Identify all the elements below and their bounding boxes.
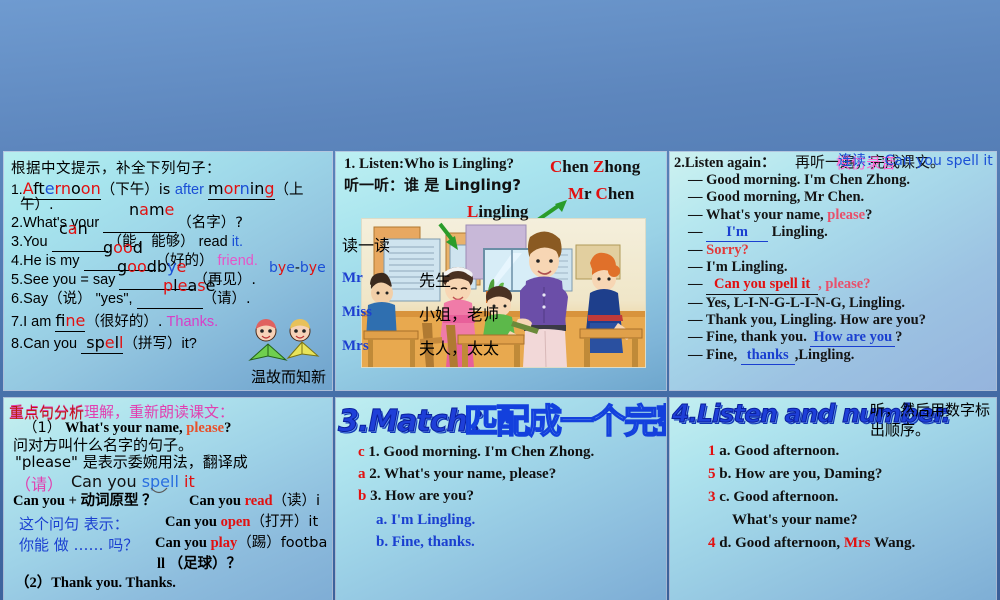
liandu-note: 连读： Can you spell it: [838, 153, 993, 170]
dialogue-text-6: I'm Lingling.: [706, 259, 787, 275]
p4-r3-b: （踢）footba: [237, 535, 327, 551]
match-answer-a[interactable]: a. I'm Lingling.: [358, 509, 666, 531]
panel-key-sentence-analysis: 重点句分析理解，重新朗读课文： 重点句分析 （1） What's your na…: [4, 398, 332, 600]
panel4-content: 重点句分析理解，重新朗读课文： 重点句分析 （1） What's your na…: [4, 398, 332, 592]
dash-4: —: [688, 224, 703, 240]
liandu-text: Can you spell it: [884, 153, 992, 169]
panel3-title: 2.Listen again：: [674, 155, 776, 171]
panel3-content: 2.Listen again： 再听一遍，完成课文。 模仿录音 — Good m…: [670, 152, 996, 365]
label-chen-zhong: Chen Zhong: [550, 157, 640, 177]
dash-10: —: [688, 329, 703, 345]
liandu-label: 连读：: [838, 153, 880, 169]
p4-r2-verb: open: [221, 514, 251, 530]
dialogue-line-10: — Fine, thank you. How are you?: [674, 329, 996, 347]
match-item-3[interactable]: b 3. How are you?: [358, 485, 666, 507]
number-text-d-b: Wang.: [871, 535, 916, 551]
dialogue-blank-11: thanks: [741, 347, 795, 365]
dialogue-text-3: What's your name,: [706, 207, 827, 223]
match-text-3: 3. How are you?: [370, 488, 474, 504]
dialogue-blank-10: How are you: [810, 329, 895, 347]
match-key-2: a: [358, 466, 366, 482]
panel-listen-again-dialogue: 2.Listen again： 再听一遍，完成课文。 模仿录音 — Good m…: [670, 152, 996, 390]
classroom-illustration: [361, 218, 646, 368]
term-mr-en: Mr: [342, 270, 363, 287]
number-value-c: 3: [708, 489, 716, 505]
label-mr-chen: Mr Chen: [568, 184, 634, 204]
dialogue-text-9: Thank you, Lingling. How are you?: [706, 312, 926, 328]
term-miss-cn: 小姐，老师: [419, 301, 499, 325]
p4-line-8: （2）Thank you. Thanks.: [9, 575, 332, 592]
number-item-c[interactable]: 3 c. Good afternoon.: [708, 486, 996, 509]
number-text-d-hl: Mrs: [844, 535, 871, 551]
p4-r2-b: （打开）it: [250, 514, 318, 530]
match-text-2: 2. What's your name, please?: [369, 466, 556, 482]
dialogue-line-8: — Yes, L-I-N-G-L-I-N-G, Lingling.: [674, 295, 996, 312]
dash-3: —: [688, 207, 703, 223]
match-item-1[interactable]: c 1. Good morning. I'm Chen Zhong.: [358, 441, 666, 463]
dialogue-text-1: Good morning. I'm Chen Zhong.: [706, 172, 910, 188]
dialogue-line-3: — What's your name, please?: [674, 207, 996, 224]
dialogue-line-5: — Sorry? 连读： Can you spell it: [674, 242, 996, 259]
match-item-2[interactable]: a 2. What's your name, please?: [358, 463, 666, 485]
dialogue-text-4b: Lingling.: [768, 224, 828, 240]
dash-11: —: [688, 347, 703, 363]
dialogue-blank-7: Can you spell it: [706, 276, 818, 294]
slide-stage: 根据中文提示，补全下列句子： 1.Afternoon（下午）is after m…: [0, 0, 1000, 600]
dialogue-line-11: — Fine, thanks,Lingling.: [674, 347, 996, 365]
dash-2: —: [688, 189, 703, 205]
dialogue-blank-4: I'm: [706, 224, 768, 242]
dash-5: —: [688, 242, 703, 258]
read-label: 读一读: [342, 232, 390, 256]
number-item-c2: What's your name?: [708, 509, 996, 532]
term-miss-en: Miss: [342, 304, 372, 321]
match-key-3: b: [358, 488, 366, 504]
p4-r1-verb: read: [245, 493, 273, 509]
dialogue-text-10b: ?: [895, 329, 902, 345]
term-mr-cn: 先生: [419, 267, 451, 291]
dialogue-text-2: Good morning, Mr Chen.: [706, 189, 864, 205]
panel-listen-who-is-lingling: 1. Listen:Who is Lingling? 听一听：谁 是 Lingl…: [336, 152, 666, 390]
p4-line-2: 问对方叫什么名字的句子。: [9, 437, 332, 454]
p4-hl-please: please: [186, 420, 224, 436]
p4-right-3: Can you play（踢）footba: [155, 535, 327, 552]
dash-8: —: [688, 295, 703, 311]
dialogue-text-7b: , please?: [818, 276, 870, 292]
dialogue-text-3b: ?: [865, 207, 872, 223]
number-item-d[interactable]: 4 d. Good afternoon, Mrs Wang.: [708, 532, 996, 555]
dash-6: —: [688, 259, 703, 275]
panel4-heading-overlay: 重点句分析: [9, 402, 84, 423]
question-6: 6.Say（说） "yes", （请）. please: [11, 291, 326, 309]
dialogue-line-2: — Good morning, Mr Chen.: [674, 189, 996, 206]
p4-canyou-it: it: [179, 472, 195, 491]
number-text-d-a: d. Good afternoon,: [719, 535, 844, 551]
term-mrs-en: Mrs: [342, 338, 369, 355]
panel-match-exercise: 3.Match： 匹配成一个完整的对话 c 1. Good morning. I…: [336, 398, 666, 600]
p4-r3-verb: play: [211, 535, 238, 551]
dialogue-text-11b: ,Lingling.: [795, 347, 855, 363]
dash-9: —: [688, 312, 703, 328]
number-value-a: 1: [708, 443, 716, 459]
p4-r2-a: Can you: [165, 514, 221, 530]
dialogue-line-4: — I'm Lingling.: [674, 224, 996, 242]
label-lingling: Lingling: [467, 202, 528, 222]
p4-line-3: "please" 是表示委婉用法，翻译成: [9, 454, 332, 471]
p4-canyou-a: Can you: [71, 472, 142, 491]
dialogue-hl-3: please: [827, 207, 865, 223]
dash-1: —: [688, 172, 703, 188]
number-text-c: c. Good afternoon.: [719, 489, 838, 505]
match-text-1: 1. Good morning. I'm Chen Zhong.: [368, 444, 594, 460]
p4-line-5: Can you + 动词原型 ？: [13, 493, 157, 510]
dialogue-text-5: Sorry?: [706, 242, 749, 258]
match-key-1: c: [358, 444, 365, 460]
p4-right-1: Can you read（读）i: [189, 493, 320, 510]
dialogue-line-1: — Good morning. I'm Chen Zhong.: [674, 172, 996, 189]
p4-right-2: Can you open（打开）it: [165, 514, 318, 531]
number-value-b: 5: [708, 466, 716, 482]
match-answer-b[interactable]: b. Fine, thanks.: [358, 531, 666, 553]
dash-7: —: [688, 276, 703, 292]
panel1-footer-note: 温故而知新: [251, 366, 326, 387]
p4-line-7: 你能 做 …… 吗？: [19, 537, 138, 554]
dialogue-line-7: — Can you spell it, please?: [674, 276, 996, 294]
number-text-b: b. How are you, Daming?: [719, 466, 882, 482]
p4-qing: （请）: [15, 471, 63, 495]
panel-review-fill-in-blanks: 根据中文提示，补全下列句子： 1.Afternoon（下午）is after m…: [4, 152, 332, 390]
number-value-d: 4: [708, 535, 716, 551]
panel-listen-and-number: 4.Listen and number. 听，然后用数字标出顺序。 1 a. G…: [670, 398, 996, 600]
two-kids-reading-icon: [242, 318, 326, 364]
p4-r1-b: （读）i: [273, 493, 321, 509]
p4-r3-a: Can you: [155, 535, 211, 551]
dialogue-line-9: — Thank you, Lingling. How are you?: [674, 312, 996, 329]
dialogue-text-8: Yes, L-I-N-G-L-I-N-G, Lingling.: [706, 295, 905, 311]
dialogue-text-10: Fine, thank you.: [706, 329, 810, 345]
p4-line-6: 这个问句 表示：: [19, 516, 129, 533]
number-item-b[interactable]: 5 b. How are you, Daming?: [708, 463, 996, 486]
dialogue-text-11: Fine,: [706, 347, 741, 363]
term-mrs-cn: 夫人，太太: [419, 335, 499, 359]
dialogue-line-6: — I'm Lingling.: [674, 259, 996, 276]
p4-r1-a: Can you: [189, 493, 245, 509]
panel6-title-cn: 听，然后用数字标出顺序。: [870, 400, 992, 440]
p4-right-4: ll （足球）？: [9, 556, 332, 573]
panel1-heading: 根据中文提示，补全下列句子：: [11, 157, 326, 178]
arrow-to-lingling: [434, 220, 464, 254]
number-text-a: a. Good afternoon.: [719, 443, 839, 459]
number-item-a[interactable]: 1 a. Good afternoon.: [708, 440, 996, 463]
question-3: 3.You （能，能够） read it. can: [11, 234, 326, 252]
panel5-title-cn: 匹配成一个完整的对话: [464, 398, 666, 438]
